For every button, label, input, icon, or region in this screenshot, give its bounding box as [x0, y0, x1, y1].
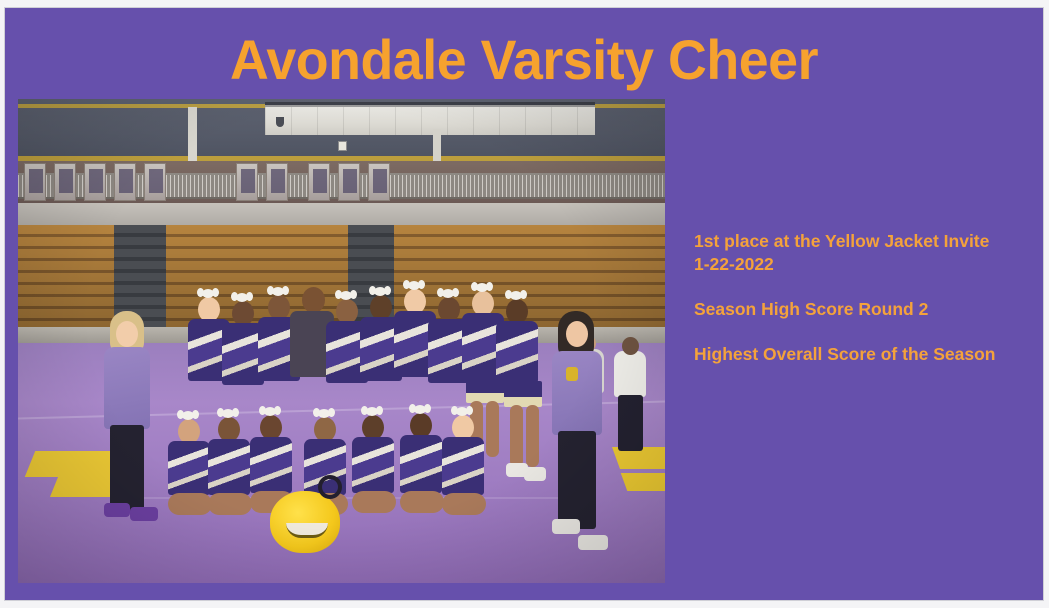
wall-banner	[144, 163, 166, 201]
coach-top	[552, 351, 602, 435]
team-crest-icon	[566, 367, 578, 381]
cheer-uniform	[400, 435, 442, 493]
cheerleader-head	[302, 287, 325, 313]
cheer-skirt	[466, 377, 504, 403]
wall-banner	[114, 163, 136, 201]
cheer-uniform	[442, 437, 484, 495]
mascot-antenna-icon	[318, 475, 342, 499]
caption-round-score: Season High Score Round 2	[694, 298, 1004, 321]
cheer-uniform	[168, 441, 210, 495]
hair-bow	[442, 289, 454, 298]
hair-bow	[318, 409, 330, 418]
coach-pants	[110, 425, 144, 511]
wall-banner	[236, 163, 258, 201]
page-title: Avondale Varsity Cheer	[26, 30, 1022, 90]
hair-bow	[202, 289, 214, 298]
wall-banner	[338, 163, 360, 201]
cheer-legs	[352, 491, 396, 513]
hair-bow	[222, 409, 234, 418]
cheer-uniform	[496, 321, 538, 383]
bystander	[614, 351, 646, 397]
gym-divider-curtain	[265, 105, 595, 135]
hair-bow	[408, 281, 420, 290]
cheer-legs	[442, 493, 486, 515]
hair-bow	[340, 291, 352, 300]
wall-banner	[308, 163, 330, 201]
hair-bow	[374, 287, 386, 296]
coach-pants	[558, 431, 596, 529]
wall-banner	[84, 163, 106, 201]
caption-block: 1st place at the Yellow Jacket Invite 1-…	[694, 230, 1004, 366]
wall-banner	[24, 163, 46, 201]
cheer-legs	[208, 493, 252, 515]
coach-face	[116, 321, 138, 347]
cheer-legs	[510, 405, 523, 467]
cheer-shoe	[524, 467, 546, 481]
coach-shoe	[130, 507, 158, 521]
coach-shoe	[104, 503, 130, 517]
wall-banner	[266, 163, 288, 201]
hair-bow	[476, 283, 488, 292]
hair-bow	[366, 407, 378, 416]
cheer-legs	[486, 401, 499, 457]
cheer-skirt	[504, 381, 542, 407]
hair-bow	[264, 407, 276, 416]
cheer-uniform	[208, 439, 250, 495]
bystander-head	[622, 337, 639, 355]
cheer-legs	[168, 493, 212, 515]
coach-face	[566, 321, 588, 347]
caption-placement: 1st place at the Yellow Jacket Invite 1-…	[694, 230, 1004, 276]
caption-overall-score: Highest Overall Score of the Season	[694, 343, 1004, 366]
cheer-uniform	[352, 437, 394, 493]
cheer-uniform	[250, 437, 292, 493]
hair-bow	[414, 405, 426, 414]
bystander	[618, 395, 643, 451]
wall-banner	[368, 163, 390, 201]
gym-mid-wall	[18, 203, 665, 225]
hair-bow	[182, 411, 194, 420]
hair-bow	[236, 293, 248, 302]
mascot-head	[270, 491, 340, 553]
slide-frame: Avondale Varsity Cheer	[0, 0, 1049, 608]
coach-shoe	[578, 535, 608, 550]
hair-bow	[272, 287, 284, 296]
coach-shoe	[552, 519, 580, 534]
wall-banner	[54, 163, 76, 201]
ceiling-lamp-icon	[276, 117, 284, 127]
slide-canvas: Avondale Varsity Cheer	[5, 8, 1043, 600]
hair-bow	[456, 407, 468, 416]
cheer-legs	[526, 405, 539, 467]
hair-bow	[510, 291, 522, 300]
team-photo	[18, 99, 665, 583]
wall-light-icon	[338, 141, 347, 151]
coach-top	[104, 347, 150, 429]
cheer-legs	[400, 491, 444, 513]
